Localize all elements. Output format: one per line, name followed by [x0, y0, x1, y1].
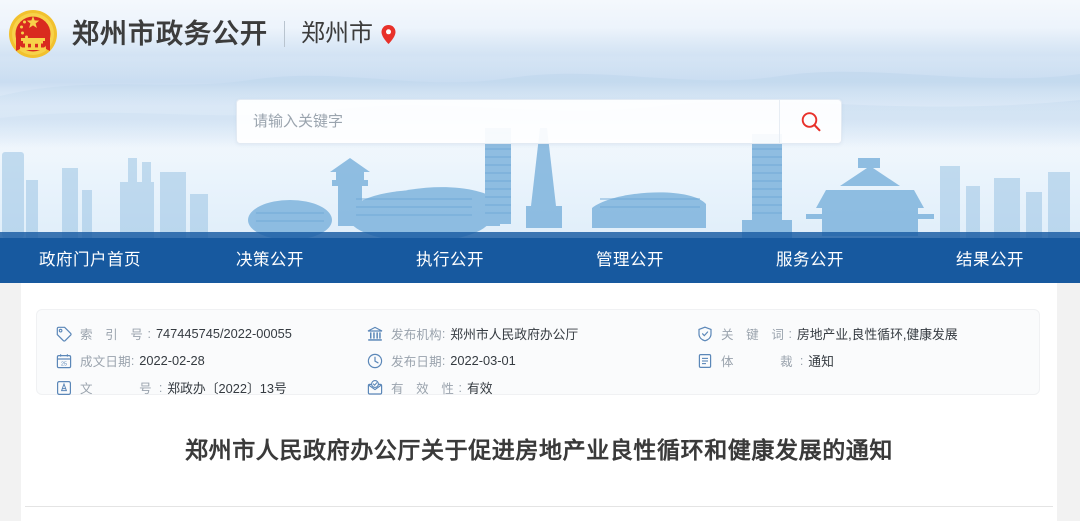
site-title: 郑州市政务公开: [72, 21, 268, 48]
metadata-value-publish-date: 2022-03-01: [450, 353, 515, 368]
nav-item-government-portal[interactable]: 政府门户首页: [0, 238, 180, 283]
city-selector-label[interactable]: 郑州市: [301, 22, 373, 46]
metadata-label: 索 引 号: [80, 324, 147, 343]
zhengzhou-skyline-graphic: [0, 128, 1080, 238]
metadata-label: 有 效 性: [391, 378, 458, 397]
metadata-value-issuing-agency: 郑州市人民政府办公厅: [450, 324, 578, 343]
calendar-icon: 25: [56, 353, 72, 369]
main-navigation: 政府门户首页 决策公开 执行公开 管理公开 服务公开 结果公开: [0, 238, 1080, 283]
nav-item-execution-disclosure[interactable]: 执行公开: [360, 238, 540, 283]
metadata-value-index-number: 747445745/2022-00055: [156, 326, 292, 341]
metadata-row-publish-date: 发布日期 : 2022-03-01: [367, 350, 697, 371]
metadata-value-keywords: 房地产业,良性循环,健康发展: [797, 324, 958, 343]
institution-icon: [367, 326, 383, 342]
china-national-emblem-icon: [8, 9, 58, 59]
shield-check-icon: [697, 326, 713, 342]
nav-item-service-disclosure[interactable]: 服务公开: [720, 238, 900, 283]
nav-item-result-disclosure[interactable]: 结果公开: [900, 238, 1080, 283]
clipboard-icon: [697, 353, 713, 369]
metadata-colon: :: [458, 381, 461, 395]
brand[interactable]: 郑州市政务公开 郑州市: [8, 7, 396, 61]
metadata-column-3: 关 键 词 : 房地产业,良性循环,健康发展 体 裁 : 通知: [697, 310, 1039, 394]
metadata-row-issuing-agency: 发布机构 : 郑州市人民政府办公厅: [367, 323, 697, 344]
metadata-column-2: 发布机构 : 郑州市人民政府办公厅 发布日期 : 2022-03-01: [367, 310, 697, 394]
metadata-value-draft-date: 2022-02-28: [139, 353, 204, 368]
brand-divider: [284, 21, 285, 47]
metadata-row-keywords: 关 键 词 : 房地产业,良性循环,健康发展: [697, 323, 1039, 344]
page-root: 郑州市政务公开 郑州市 政府门户首页 决策公开 执行公开 管理公开 服务公开: [0, 0, 1080, 521]
metadata-label: 文 号: [80, 378, 159, 397]
metadata-label: 发布机构: [391, 324, 442, 343]
metadata-value-document-number: 郑政办〔2022〕13号: [167, 378, 286, 397]
document-number-icon: [56, 380, 72, 396]
metadata-colon: :: [131, 354, 134, 368]
content-divider: [25, 506, 1053, 507]
document-title: 郑州市人民政府办公厅关于促进房地产业良性循环和健康发展的通知: [21, 431, 1057, 465]
tag-icon: [56, 326, 72, 342]
search-input[interactable]: [237, 100, 779, 143]
metadata-row-validity: 有 效 性 : 有效: [367, 377, 697, 398]
clock-icon: [367, 353, 383, 369]
metadata-label: 成文日期: [80, 351, 131, 370]
envelope-check-icon: [367, 380, 383, 396]
metadata-colon: :: [788, 327, 791, 341]
location-pin-icon[interactable]: [381, 25, 396, 44]
content-area: 索 引 号 : 747445745/2022-00055 25 成文日期 : 2…: [21, 283, 1057, 521]
metadata-colon: :: [442, 354, 445, 368]
metadata-row-genre: 体 裁 : 通知: [697, 350, 1039, 371]
metadata-colon: :: [159, 381, 162, 395]
metadata-label: 体 裁: [721, 351, 800, 370]
search-button[interactable]: [779, 100, 841, 143]
metadata-row-draft-date: 25 成文日期 : 2022-02-28: [56, 350, 367, 371]
metadata-colon: :: [800, 354, 803, 368]
metadata-row-document-number: 文 号 : 郑政办〔2022〕13号: [56, 377, 367, 398]
search-icon: [799, 110, 823, 134]
metadata-row-index-number: 索 引 号 : 747445745/2022-00055: [56, 323, 367, 344]
document-metadata-panel: 索 引 号 : 747445745/2022-00055 25 成文日期 : 2…: [36, 309, 1040, 395]
metadata-value-validity: 有效: [467, 378, 493, 397]
site-banner: 郑州市政务公开 郑州市: [0, 0, 1080, 238]
metadata-label: 发布日期: [391, 351, 442, 370]
metadata-colon: :: [442, 327, 445, 341]
svg-text:25: 25: [61, 361, 67, 367]
metadata-label: 关 键 词: [721, 324, 788, 343]
nav-item-management-disclosure[interactable]: 管理公开: [540, 238, 720, 283]
search-bar[interactable]: [236, 99, 842, 144]
metadata-colon: :: [147, 327, 150, 341]
metadata-value-genre: 通知: [808, 351, 834, 370]
nav-item-decision-disclosure[interactable]: 决策公开: [180, 238, 360, 283]
metadata-column-1: 索 引 号 : 747445745/2022-00055 25 成文日期 : 2…: [37, 310, 367, 394]
